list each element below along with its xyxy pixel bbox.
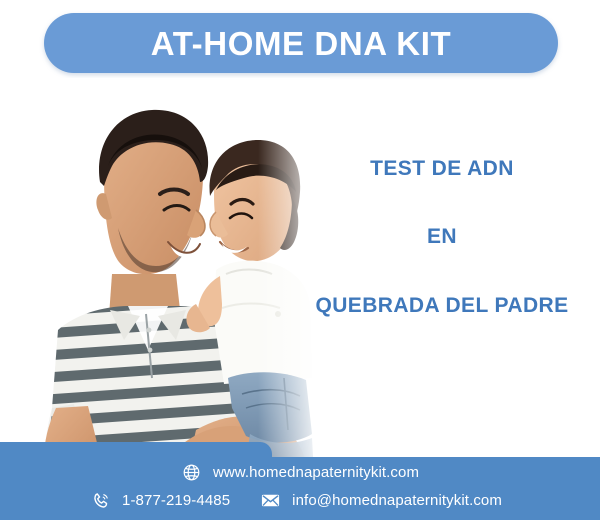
phone-icon — [90, 490, 111, 511]
title-pill: AT-HOME DNA KIT — [44, 13, 558, 73]
footer-email-text: info@homednapaternitykit.com — [292, 493, 502, 508]
footer-bar: www.homednapaternitykit.com 1-877-219-44… — [0, 432, 600, 520]
footer-email-item[interactable]: info@homednapaternitykit.com — [260, 490, 502, 511]
footer-phone-item[interactable]: 1-877-219-4485 — [90, 490, 230, 511]
footer-website-item[interactable]: www.homednapaternitykit.com — [181, 462, 419, 483]
photo-canvas — [0, 78, 330, 473]
headline-line-1: TEST DE ADN — [292, 158, 592, 179]
footer-website-row: www.homednapaternitykit.com — [0, 462, 600, 483]
father-and-child-illustration — [0, 78, 330, 473]
page-title: AT-HOME DNA KIT — [151, 27, 451, 60]
footer-website-text: www.homednapaternitykit.com — [213, 465, 419, 480]
headline-line-2: EN — [292, 226, 592, 247]
header-band: AT-HOME DNA KIT — [0, 0, 600, 86]
headline-line-3: QUEBRADA DEL PADRE — [292, 295, 592, 316]
poster-root: AT-HOME DNA KIT — [0, 0, 600, 520]
father-and-child-photo — [0, 78, 330, 473]
headline-block: TEST DE ADN EN QUEBRADA DEL PADRE — [292, 158, 592, 316]
footer-phone-text: 1-877-219-4485 — [122, 493, 230, 508]
globe-icon — [181, 462, 202, 483]
footer-contact-row: 1-877-219-4485 info@homednapaternitykit.… — [0, 490, 600, 511]
envelope-icon — [260, 490, 281, 511]
